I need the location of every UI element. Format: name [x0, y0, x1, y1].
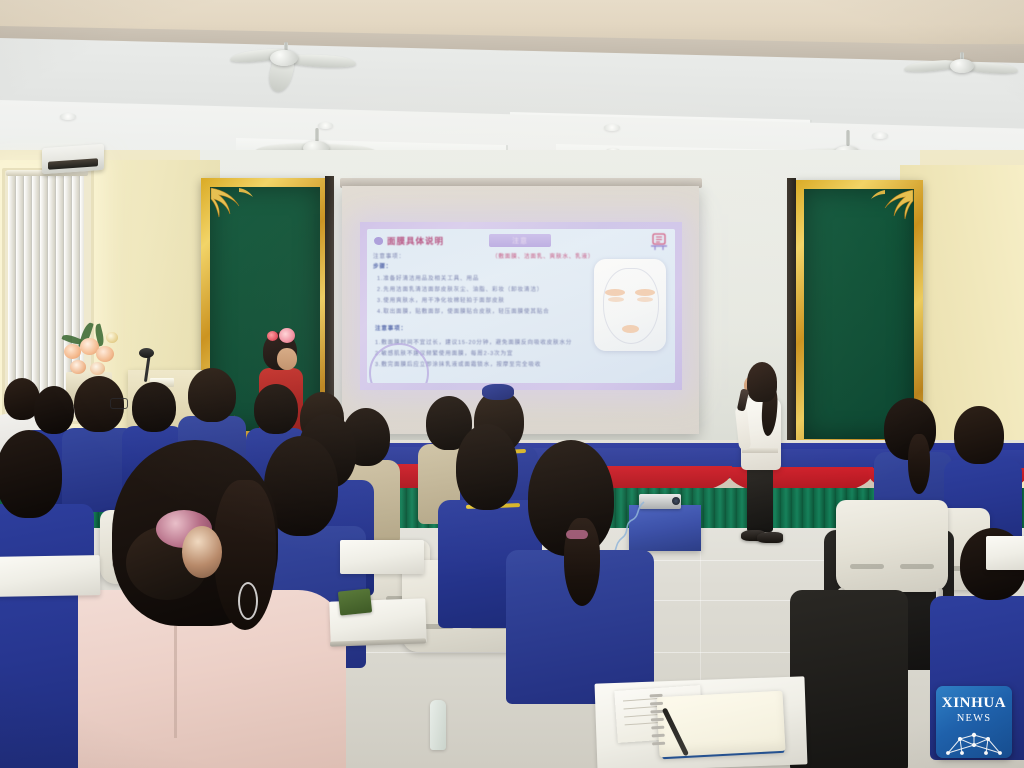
water-bottle	[430, 700, 446, 750]
audience-member	[506, 440, 656, 700]
recessed-light	[604, 124, 620, 131]
face-mask-ear-loop	[238, 582, 258, 620]
slide-pill-label: 注意	[489, 236, 551, 246]
slide-content-panel: 面膜具体说明 注意 （敷面膜、洁面乳、爽肤水、乳液） 注意事项： 步骤： 1.准…	[367, 229, 675, 383]
presenter-hair	[747, 362, 777, 402]
slide-step-line: 4.取出面膜，贴敷面部，使面膜贴合皮肤，轻压面膜使其贴合	[377, 307, 550, 315]
projected-slide: 面膜具体说明 注意 （敷面膜、洁面乳、爽肤水、乳液） 注意事项： 步骤： 1.准…	[360, 222, 682, 390]
recessed-light	[60, 113, 76, 120]
desk	[0, 555, 100, 597]
notebook-spiral-binding	[649, 690, 668, 755]
projector-lens-icon	[672, 497, 680, 505]
face	[277, 348, 297, 370]
slide-heading-red: （敷面膜、洁面乳、爽肤水、乳液）	[492, 252, 594, 260]
watermark-network-icon	[944, 727, 1004, 764]
slide-step-line: 1.准备好清洁用品及相关工具、用品	[377, 274, 479, 282]
slide-intro-line: 注意事项：	[373, 252, 483, 260]
slide-section-label: 步骤：	[373, 262, 392, 270]
desk	[340, 540, 424, 574]
recessed-light	[872, 132, 888, 139]
watermark-news-text: NEWS	[957, 713, 992, 724]
blazer-seam	[174, 618, 177, 738]
slide-step-line: 3.使用爽肤水，用干净化妆棉轻拍于面部皮肤	[377, 296, 505, 304]
flower-arrangement	[58, 320, 128, 382]
slide-notes-label: 注意事项：	[375, 324, 407, 332]
desk	[986, 536, 1024, 570]
hair-tie-icon	[566, 530, 588, 539]
watermark-xinhua-text: XINHUA	[942, 695, 1006, 712]
flower-hairpiece-icon	[267, 331, 278, 341]
microphone-icon	[139, 348, 154, 358]
audience-member	[790, 560, 910, 768]
open-spiral-notebook	[657, 691, 786, 758]
xinhua-news-watermark: XINHUA NEWS	[936, 686, 1012, 758]
slide-title: 面膜具体说明	[387, 235, 444, 247]
hair-bow-icon	[482, 384, 514, 400]
floor-tile-line	[700, 540, 701, 700]
slide-bullet-icon	[374, 237, 383, 245]
flower-hairpiece-icon	[279, 328, 295, 343]
green-book	[338, 588, 372, 615]
photo-scene: 面膜具体说明 注意 （敷面膜、洁面乳、爽肤水、乳液） 注意事项： 步骤： 1.准…	[0, 0, 1024, 768]
recessed-light	[318, 122, 333, 129]
presenter-shoe	[757, 532, 783, 543]
presenter-trousers	[747, 466, 773, 532]
slide-title-pill: 注意	[489, 234, 551, 247]
presenter-with-microphone	[735, 362, 791, 560]
facial-sheet-mask-image	[594, 259, 666, 351]
slide-step-line: 2.先用洁面乳清洁面部皮肤灰尘、油脂、彩妆（卸妆清洁）	[377, 285, 543, 293]
slide-brand-logo-icon	[649, 233, 669, 252]
floral-hair-scrunchie	[182, 526, 222, 578]
